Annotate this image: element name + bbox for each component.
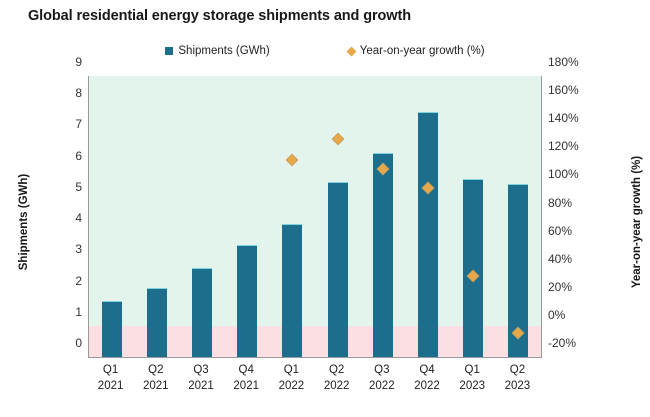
growth-marker[interactable]	[331, 133, 344, 146]
x-axis-label: Q42022	[404, 362, 449, 406]
y-axis-right-tick: 40%	[548, 252, 572, 266]
y-axis-left-tick: 5	[75, 180, 82, 194]
bar-slot	[451, 76, 496, 357]
y-axis-right-tick: 180%	[548, 55, 579, 69]
y-axis-left-tick: 3	[75, 242, 82, 256]
y-axis-left-tick: 6	[75, 149, 82, 163]
y-axis-right-tick: 0%	[548, 308, 565, 322]
x-axis-label: Q12023	[450, 362, 495, 406]
bar-slot	[270, 76, 315, 357]
x-axis-label: Q22022	[314, 362, 359, 406]
y-axis-right-tick: 120%	[548, 139, 579, 153]
bar[interactable]	[418, 112, 438, 357]
y-axis-left-tick: 8	[75, 86, 82, 100]
bar-slot	[405, 76, 450, 357]
bar-slot	[496, 76, 541, 357]
chart-title: Global residential energy storage shipme…	[28, 8, 411, 24]
y-axis-left-tick: 9	[75, 55, 82, 69]
bar-slot	[360, 76, 405, 357]
y-axis-right-title: Year-on-year growth (%)	[631, 147, 643, 297]
bar-slot	[179, 76, 224, 357]
x-axis-label: Q22023	[495, 362, 540, 406]
y-axis-right-tick: 100%	[548, 167, 579, 181]
y-axis-right-tick: 60%	[548, 224, 572, 238]
growth-marker[interactable]	[286, 154, 299, 167]
y-axis-right-ticks: -20%0%20%40%60%80%100%120%140%160%180%	[548, 76, 602, 357]
plot-area	[88, 76, 542, 358]
x-axis-labels: Q12021Q22021Q32021Q42021Q12022Q22022Q320…	[88, 362, 540, 406]
y-axis-left-ticks: 0123456789	[40, 76, 82, 357]
y-axis-left-tick: 7	[75, 117, 82, 131]
legend-label-shipments: Shipments (GWh)	[178, 45, 269, 57]
y-axis-left-tick: 1	[75, 305, 82, 319]
bar[interactable]	[147, 288, 167, 357]
x-axis-label: Q22021	[133, 362, 178, 406]
bar[interactable]	[282, 224, 302, 357]
legend-item-growth[interactable]: Year-on-year growth (%)	[348, 45, 485, 57]
y-axis-right-tick: 20%	[548, 280, 572, 294]
y-axis-left-title: Shipments (GWh)	[18, 152, 30, 292]
y-axis-right-tick: -20%	[548, 336, 576, 350]
y-axis-right-tick: 160%	[548, 83, 579, 97]
legend-item-shipments[interactable]: Shipments (GWh)	[165, 45, 269, 57]
bar[interactable]	[237, 245, 257, 357]
y-axis-left-tick: 4	[75, 211, 82, 225]
y-axis-left-tick: 0	[75, 336, 82, 350]
bar-slot	[89, 76, 134, 357]
bar-slot	[225, 76, 270, 357]
y-axis-left-tick: 2	[75, 274, 82, 288]
bar[interactable]	[328, 182, 348, 357]
bar-slot	[134, 76, 179, 357]
x-axis-label: Q12021	[88, 362, 133, 406]
bar[interactable]	[192, 268, 212, 357]
bar-slot	[315, 76, 360, 357]
chart-container: Global residential energy storage shipme…	[0, 0, 650, 417]
square-swatch-icon	[165, 47, 173, 55]
x-axis-label: Q42021	[224, 362, 269, 406]
y-axis-right-tick: 80%	[548, 196, 572, 210]
x-axis-label: Q12022	[269, 362, 314, 406]
x-axis-label: Q32022	[359, 362, 404, 406]
bar-series	[89, 76, 541, 357]
legend-label-growth: Year-on-year growth (%)	[360, 45, 485, 57]
bar[interactable]	[373, 153, 393, 358]
diamond-swatch-icon	[346, 46, 356, 56]
y-axis-right-tick: 140%	[548, 111, 579, 125]
bar[interactable]	[102, 301, 122, 357]
bar[interactable]	[463, 179, 483, 357]
x-axis-label: Q32021	[178, 362, 223, 406]
